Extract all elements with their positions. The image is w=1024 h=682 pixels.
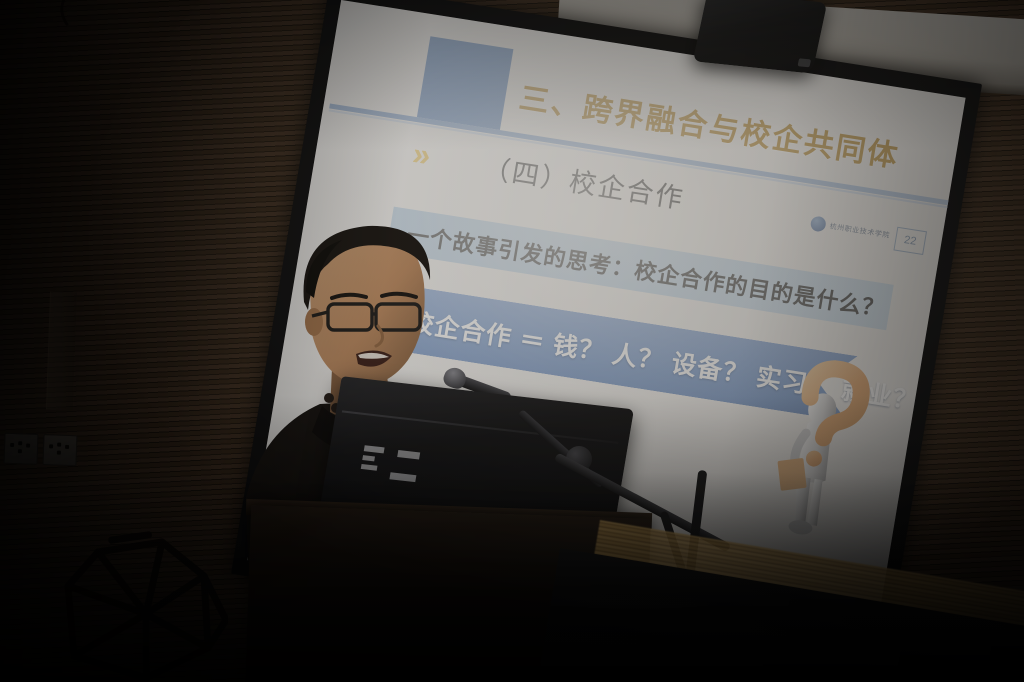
institution-logo: 杭州职业技术学院 (810, 215, 891, 242)
slide-decoration-block (417, 36, 514, 130)
slide-page-number: 22 (893, 227, 927, 255)
speaker-mount-tab (797, 58, 811, 67)
monitor-seam (342, 410, 619, 443)
wall-power-sockets[interactable] (3, 433, 78, 466)
institution-seal-icon (810, 215, 827, 232)
wall-trim (46, 292, 77, 411)
photo-scene: 三、跨界融合与校企共同体 » （四）校企合作 一个故事引发的思考：校企合作的目的… (0, 0, 1024, 682)
monitor-rear-labels (359, 445, 434, 487)
power-socket[interactable] (3, 433, 38, 465)
institution-logo-label: 杭州职业技术学院 (829, 221, 891, 240)
power-socket[interactable] (42, 434, 77, 466)
chevron-right-icon: » (410, 137, 429, 171)
wireframe-metal-chair[interactable] (58, 528, 228, 682)
ceiling-speaker (693, 0, 827, 74)
